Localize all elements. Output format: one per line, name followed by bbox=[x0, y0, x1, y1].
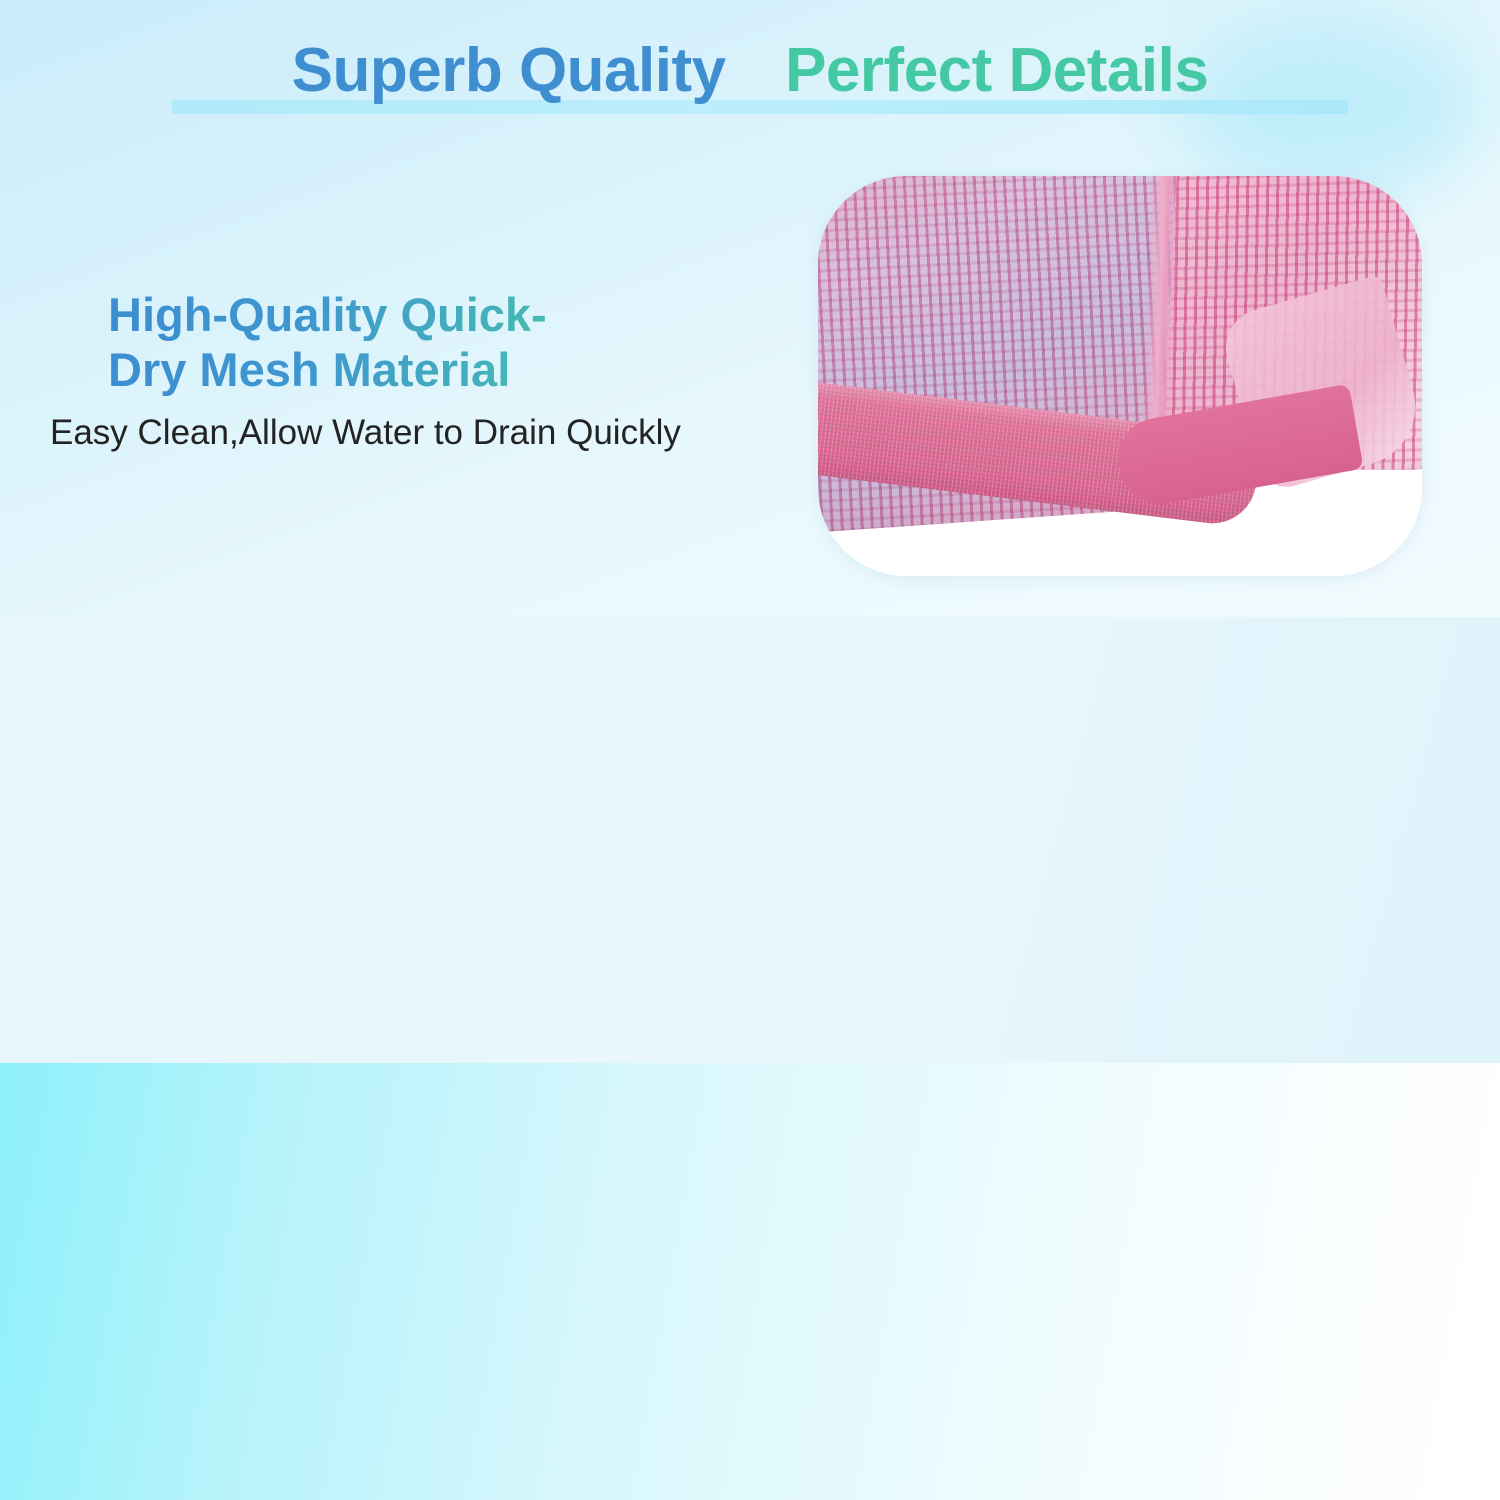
section1-heading-line2: Dry Mesh Material bbox=[108, 343, 748, 398]
section1-heading: High-Quality Quick- Dry Mesh Material bbox=[108, 288, 748, 397]
page-title: Superb Quality Perfect Details bbox=[0, 38, 1500, 103]
section1-subheading: Easy Clean,Allow Water to Drain Quickly bbox=[50, 412, 750, 454]
page-title-text: Superb Quality Perfect Details bbox=[0, 38, 1500, 103]
section-sewing-workmanship: Exquisite Sewing Workmanship Delicate an… bbox=[0, 1063, 1500, 1500]
section1-heading-line1: High-Quality Quick- bbox=[108, 288, 748, 343]
photo-mesh-corner bbox=[818, 176, 1422, 576]
title-part-superb-quality: Superb Quality bbox=[292, 36, 726, 105]
section-reinforced-handle: Reinforced Strong Handle Bear Weight Wit… bbox=[0, 617, 1500, 1063]
section-quick-dry-mesh: Superb Quality Perfect Details High-Qual… bbox=[0, 0, 1500, 617]
title-part-perfect-details: Perfect Details bbox=[785, 36, 1208, 105]
